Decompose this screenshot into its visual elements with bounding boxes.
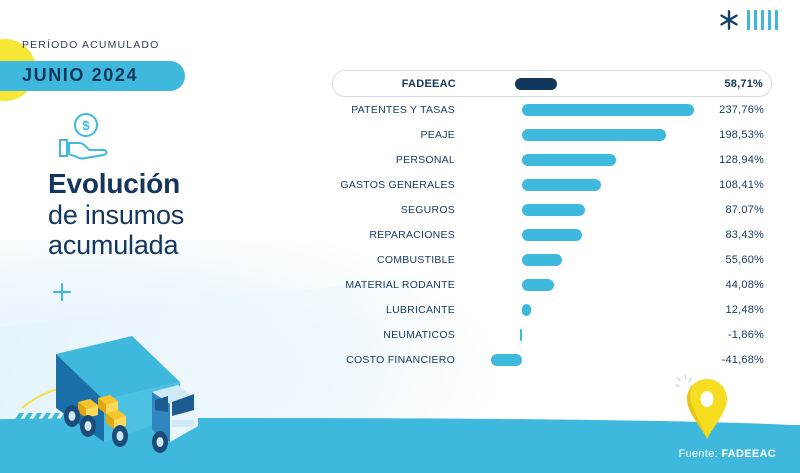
row-bar bbox=[522, 279, 554, 291]
row-bar-track bbox=[464, 272, 686, 297]
row-bar-track bbox=[464, 97, 686, 122]
row-bar-track bbox=[464, 247, 686, 272]
row-label: COSTO FINANCIERO bbox=[332, 354, 464, 366]
row-bar-track bbox=[464, 147, 686, 172]
source-name: FADEEAC bbox=[721, 448, 776, 460]
row-bar bbox=[522, 154, 616, 166]
row-value: 108,41% bbox=[686, 179, 772, 191]
row-label: NEUMATICOS bbox=[332, 329, 464, 341]
row-value: 83,43% bbox=[686, 229, 772, 241]
row-label: REPARACIONES bbox=[332, 229, 464, 241]
chart-row[interactable]: COSTO FINANCIERO -41,68% bbox=[332, 347, 772, 372]
row-bar bbox=[522, 204, 585, 216]
row-value: 237,76% bbox=[686, 104, 772, 116]
bar-chart: FADEEAC 58,71% PATENTES Y TASAS 237,76% … bbox=[332, 70, 772, 372]
chart-row[interactable]: PEAJE 198,53% bbox=[332, 122, 772, 147]
period-value: JUNIO 2024 bbox=[22, 65, 138, 86]
svg-text:$: $ bbox=[82, 118, 90, 133]
title-line-2: de insumos bbox=[48, 200, 328, 231]
row-label: PEAJE bbox=[332, 129, 464, 141]
page-title: Evolución de insumos acumulada bbox=[48, 168, 328, 261]
row-bar bbox=[522, 104, 694, 116]
chart-row[interactable]: GASTOS GENERALES 108,41% bbox=[332, 172, 772, 197]
asterisk-icon bbox=[718, 9, 740, 31]
row-bar bbox=[515, 78, 557, 90]
row-bar-track bbox=[464, 172, 686, 197]
row-value: 128,94% bbox=[686, 154, 772, 166]
brand-logo bbox=[718, 9, 779, 31]
row-bar-track bbox=[464, 297, 686, 322]
infographic-canvas: PERÍODO ACUMULADO JUNIO 2024 $ Evolución… bbox=[0, 0, 800, 473]
chart-row[interactable]: PATENTES Y TASAS 237,76% bbox=[332, 97, 772, 122]
chart-row-highlight[interactable]: FADEEAC 58,71% bbox=[332, 70, 772, 97]
row-value: -1,86% bbox=[686, 329, 772, 341]
chart-row[interactable]: PERSONAL 128,94% bbox=[332, 147, 772, 172]
row-label: MATERIAL RODANTE bbox=[332, 279, 464, 291]
row-value: 198,53% bbox=[686, 129, 772, 141]
period-kicker: PERÍODO ACUMULADO bbox=[22, 39, 159, 51]
row-bar-track bbox=[465, 71, 687, 96]
chart-row[interactable]: SEGUROS 87,07% bbox=[332, 197, 772, 222]
row-value: 12,48% bbox=[686, 304, 772, 316]
chart-row[interactable]: REPARACIONES 83,43% bbox=[332, 222, 772, 247]
row-bar bbox=[522, 229, 582, 241]
row-label: PATENTES Y TASAS bbox=[332, 104, 464, 116]
period-badge: PERÍODO ACUMULADO JUNIO 2024 bbox=[0, 38, 230, 100]
row-bar bbox=[522, 304, 531, 316]
row-label: PERSONAL bbox=[332, 154, 464, 166]
row-label: COMBUSTIBLE bbox=[332, 254, 464, 266]
row-value: 55,60% bbox=[686, 254, 772, 266]
row-value: 87,07% bbox=[686, 204, 772, 216]
money-in-hand-icon: $ bbox=[58, 112, 114, 160]
chart-row[interactable]: MATERIAL RODANTE 44,08% bbox=[332, 272, 772, 297]
row-bar-track bbox=[464, 322, 686, 347]
row-label: GASTOS GENERALES bbox=[332, 179, 464, 191]
chart-row[interactable]: COMBUSTIBLE 55,60% bbox=[332, 247, 772, 272]
row-bar-track bbox=[464, 122, 686, 147]
row-label: FADEEAC bbox=[333, 78, 465, 90]
title-line-3: acumulada bbox=[48, 230, 328, 261]
logo-bars-icon bbox=[747, 10, 779, 30]
row-bar bbox=[520, 329, 522, 341]
plus-decor-icon bbox=[52, 282, 72, 302]
row-bar bbox=[522, 179, 601, 191]
row-bar bbox=[522, 129, 666, 141]
chart-row[interactable]: NEUMATICOS -1,86% bbox=[332, 322, 772, 347]
row-label: SEGUROS bbox=[332, 204, 464, 216]
source-credit: Fuente: FADEEAC bbox=[679, 448, 776, 460]
row-value: 58,71% bbox=[687, 78, 771, 90]
row-bar-track bbox=[464, 222, 686, 247]
row-bar-track bbox=[464, 347, 686, 372]
truck-illustration bbox=[20, 330, 250, 455]
row-value: -41,68% bbox=[686, 354, 772, 366]
chart-row[interactable]: LUBRICANTE 12,48% bbox=[332, 297, 772, 322]
row-bar bbox=[491, 354, 522, 366]
row-label: LUBRICANTE bbox=[332, 304, 464, 316]
map-pin-icon bbox=[683, 378, 731, 440]
row-value: 44,08% bbox=[686, 279, 772, 291]
source-prefix: Fuente: bbox=[679, 448, 722, 460]
row-bar bbox=[522, 254, 562, 266]
row-bar-track bbox=[464, 197, 686, 222]
title-line-1: Evolución bbox=[48, 168, 328, 200]
